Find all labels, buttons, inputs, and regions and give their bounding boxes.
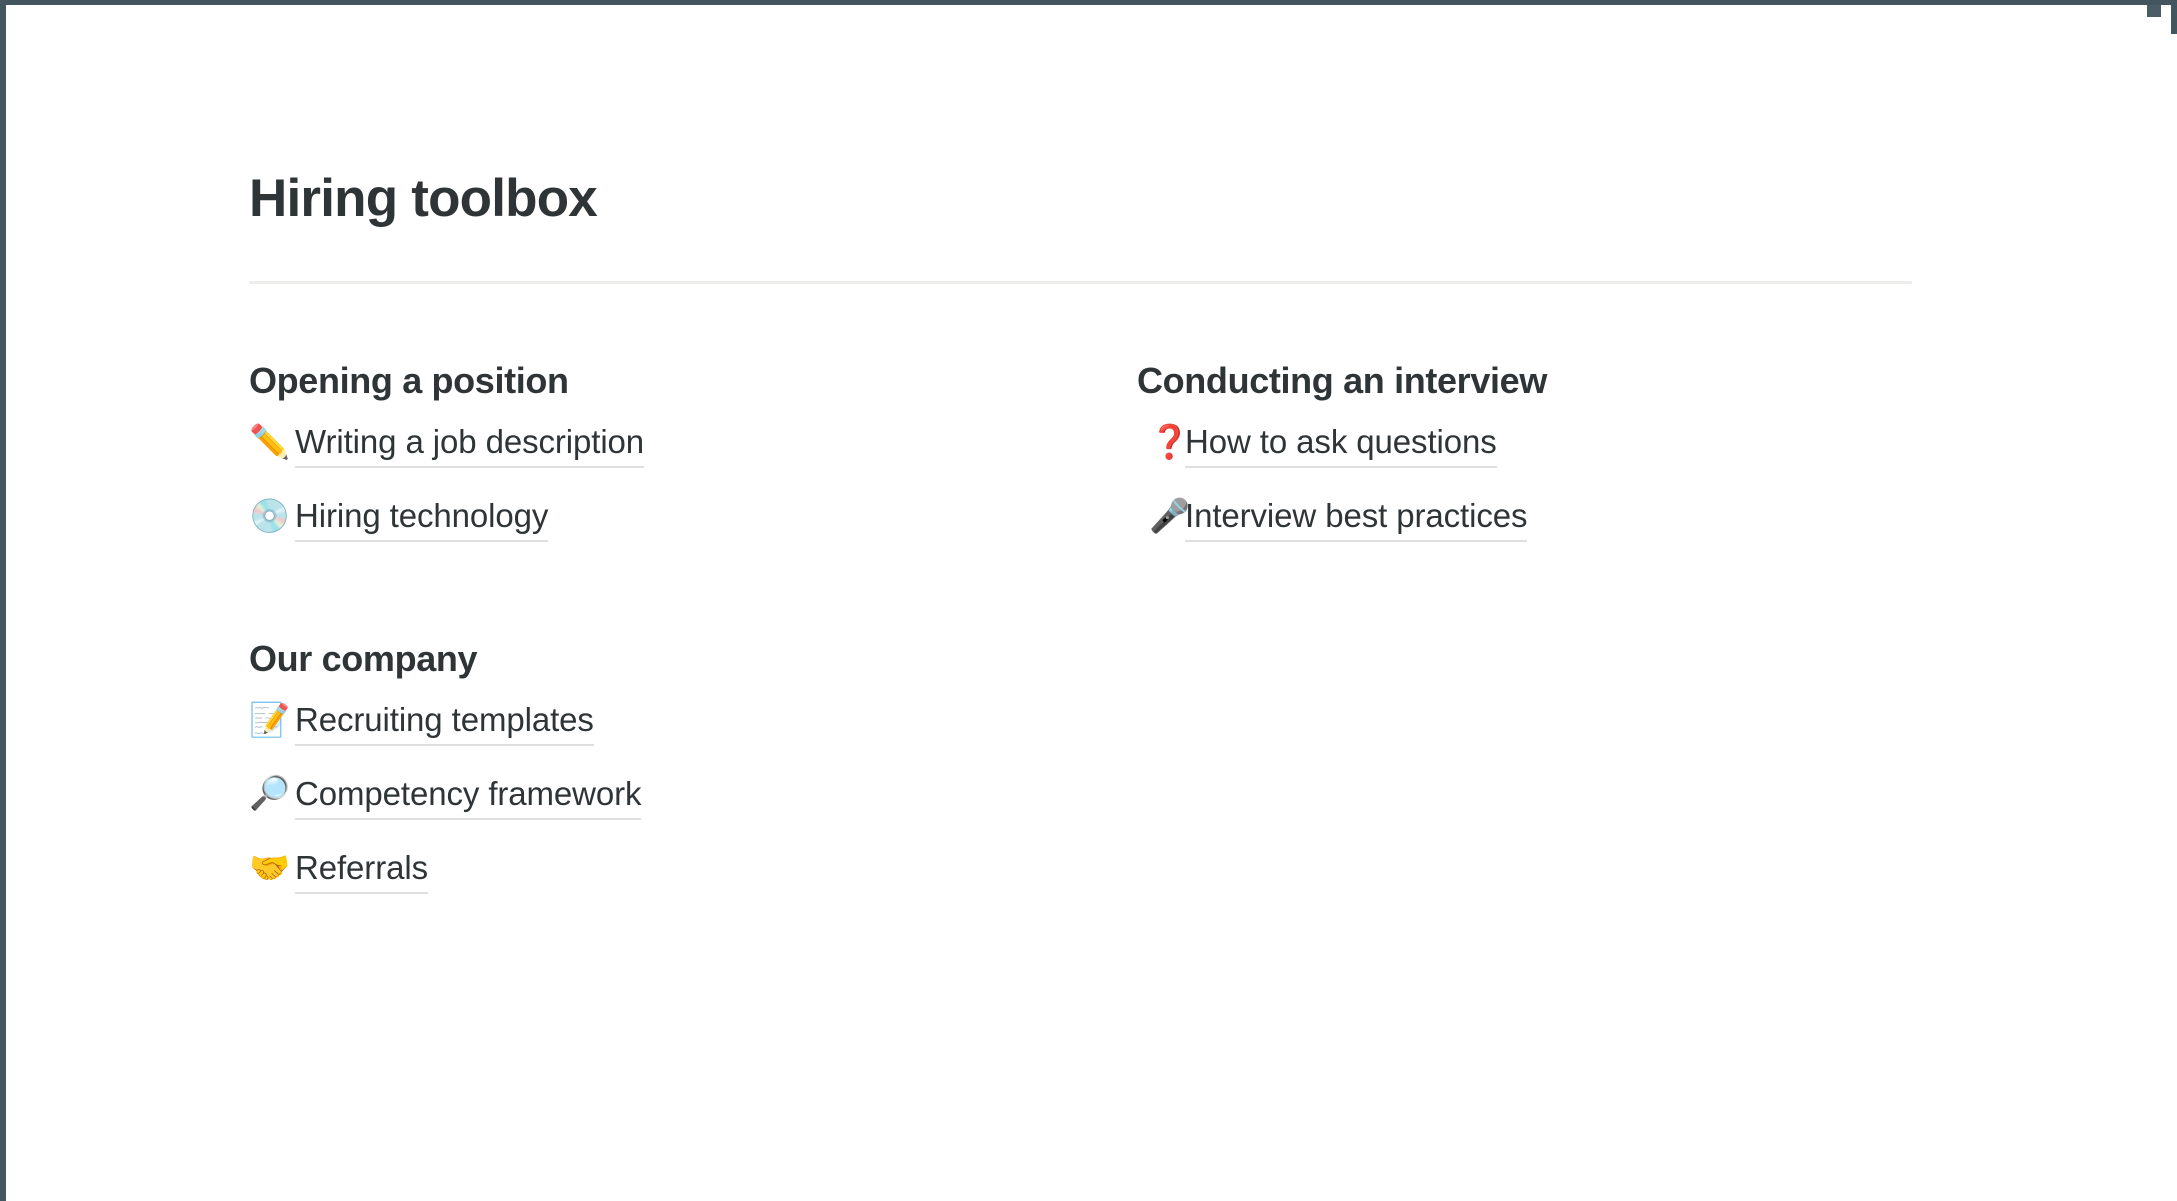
link-competency-framework[interactable]: Competency framework <box>295 772 641 821</box>
list-item[interactable]: 🔎 Competency framework <box>249 772 1137 846</box>
link-how-to-ask-questions[interactable]: How to ask questions <box>1185 420 1497 469</box>
link-list: ❓ How to ask questions 🎤 Interview best … <box>1137 420 1913 568</box>
two-column-layout: Opening a position ✏️ Writing a job desc… <box>249 358 1913 920</box>
list-item[interactable]: ❓ How to ask questions <box>1137 420 1913 494</box>
link-list: 📝 Recruiting templates 🔎 Competency fram… <box>249 698 1137 920</box>
link-list: ✏️ Writing a job description 💿 Hiring te… <box>249 420 1137 568</box>
list-item[interactable]: 💿 Hiring technology <box>249 494 1137 568</box>
section-heading: Opening a position <box>249 358 1137 403</box>
title-divider <box>249 281 1912 284</box>
link-recruiting-templates[interactable]: Recruiting templates <box>295 698 594 747</box>
list-item[interactable]: 📝 Recruiting templates <box>249 698 1137 772</box>
link-interview-best-practices[interactable]: Interview best practices <box>1185 494 1527 543</box>
list-item[interactable]: ✏️ Writing a job description <box>249 420 1137 494</box>
page-viewport: Hiring toolbox Opening a position ✏️ Wri… <box>0 0 2177 1201</box>
section-opening-a-position: Opening a position ✏️ Writing a job desc… <box>249 358 1137 568</box>
window-right-border <box>2171 0 2177 34</box>
section-conducting-an-interview: Conducting an interview ❓ How to ask que… <box>1137 358 1913 568</box>
section-heading: Our company <box>249 636 1137 681</box>
memo-icon: 📝 <box>249 703 295 736</box>
list-item[interactable]: 🤝 Referrals <box>249 846 1137 920</box>
pencil-icon: ✏️ <box>249 425 295 458</box>
window-corner-notch <box>2147 5 2161 17</box>
handshake-icon: 🤝 <box>249 851 295 884</box>
page-title: Hiring toolbox <box>249 0 1913 231</box>
link-referrals[interactable]: Referrals <box>295 846 428 895</box>
left-column: Opening a position ✏️ Writing a job desc… <box>249 358 1137 920</box>
microphone-icon: 🎤 <box>1137 499 1185 532</box>
section-our-company: Our company 📝 Recruiting templates 🔎 Com… <box>249 636 1137 920</box>
magnifying-glass-icon: 🔎 <box>249 776 295 809</box>
optical-disc-icon: 💿 <box>249 499 295 532</box>
document-body: Hiring toolbox Opening a position ✏️ Wri… <box>249 0 1913 920</box>
window-left-border <box>0 0 6 1201</box>
question-mark-icon: ❓ <box>1137 425 1185 458</box>
link-hiring-technology[interactable]: Hiring technology <box>295 494 548 543</box>
right-column: Conducting an interview ❓ How to ask que… <box>1137 358 1913 920</box>
link-writing-a-job-description[interactable]: Writing a job description <box>295 420 644 469</box>
list-item[interactable]: 🎤 Interview best practices <box>1137 494 1913 568</box>
section-heading: Conducting an interview <box>1137 358 1913 403</box>
